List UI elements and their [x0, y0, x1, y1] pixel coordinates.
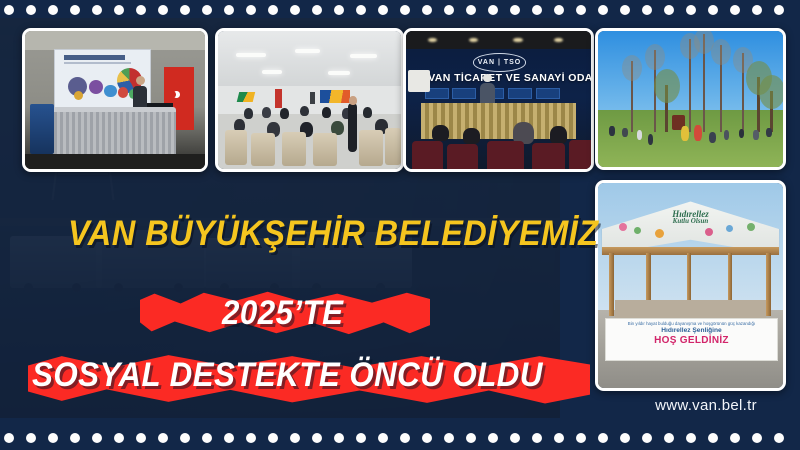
perforation-dot [290, 433, 300, 443]
perforation-dot [378, 5, 388, 15]
perforation-dot [180, 433, 190, 443]
website-url[interactable]: www.van.bel.tr [616, 397, 796, 414]
perforation-dot [312, 433, 322, 443]
perforation-dot [510, 5, 520, 15]
perforation-dot [334, 433, 344, 443]
perforation-dot [356, 433, 366, 443]
perforation-dot [598, 5, 608, 15]
perforation-dot [224, 5, 234, 15]
perforation-dot [554, 5, 564, 15]
perforation-dot [686, 5, 696, 15]
perforation-dot [774, 433, 784, 443]
perforation-dot [246, 433, 256, 443]
perforation-dot [334, 5, 344, 15]
perforation-dot [48, 433, 58, 443]
perforation-dot [400, 5, 410, 15]
perforation-dot [444, 5, 454, 15]
perforation-dot [268, 5, 278, 15]
perforation-dot [488, 5, 498, 15]
perforation-dot [664, 433, 674, 443]
perforation-dot [92, 433, 102, 443]
perforation-dot [290, 5, 300, 15]
perforation-dot [730, 5, 740, 15]
perforation-dot [752, 5, 762, 15]
perforation-dot [70, 5, 80, 15]
perforation-dot [378, 433, 388, 443]
perforation-dot [576, 433, 586, 443]
perforation-dot [26, 5, 36, 15]
photo-van-tso: VAN | TSO VAN TİCARET VE SANAYİ ODASI [403, 28, 594, 172]
perforation-dot [774, 5, 784, 15]
perforation-dot [708, 5, 718, 15]
perforation-dot [686, 433, 696, 443]
perforation-dot [532, 433, 542, 443]
photo-presentation-hall [22, 28, 208, 172]
perforation-dot [202, 5, 212, 15]
perforation-dot [26, 433, 36, 443]
perforation-dot [752, 433, 762, 443]
perforation-dot [642, 433, 652, 443]
perforation-dot [642, 5, 652, 15]
photo-hidirellez: Hıdırellez Kutlu Olsun Bin yıldır hayat … [595, 180, 786, 391]
van-tso-logo: VAN | TSO [473, 53, 527, 72]
perforation-dot [532, 5, 542, 15]
perforation-dot [400, 433, 410, 443]
perforation-dot [554, 433, 564, 443]
perforation-dot [136, 5, 146, 15]
perforation-dot [48, 5, 58, 15]
headline-line-2: 2025’TE [222, 294, 343, 333]
perforation-dot [4, 5, 14, 15]
perforation-dot [466, 433, 476, 443]
headline-block: VAN BÜYÜKŞEHİR BELEDİYEMİZ 2025’TE SOSYA… [0, 206, 612, 406]
perforation-dot [620, 433, 630, 443]
headline-line-1: VAN BÜYÜKŞEHİR BELEDİYEMİZ [68, 214, 599, 254]
perforation-dot [4, 433, 14, 443]
perforation-dot [598, 433, 608, 443]
perforation-dot [444, 433, 454, 443]
perforation-dot [114, 5, 124, 15]
perforation-dot [136, 433, 146, 443]
perforation-dot [158, 433, 168, 443]
perforation-dot [730, 433, 740, 443]
perforation-dot [224, 433, 234, 443]
van-tso-screen-title: VAN TİCARET VE SANAYİ ODASI [428, 72, 569, 84]
perforation-dot [356, 5, 366, 15]
perforation-dot [664, 5, 674, 15]
perforation-dot [268, 433, 278, 443]
perforation-dots-bottom [0, 428, 800, 450]
headline-line-3: SOSYAL DESTEKTE ÖNCÜ OLDU [32, 356, 543, 395]
perforation-dot [180, 5, 190, 15]
perforation-dot [422, 5, 432, 15]
perforation-dot [312, 5, 322, 15]
photo-park-festival [595, 28, 786, 170]
perforation-dots-top [0, 0, 800, 22]
perforation-dot [202, 433, 212, 443]
perforation-dot [114, 433, 124, 443]
perforation-dot [422, 433, 432, 443]
photo-seminar-audience [215, 28, 404, 172]
perforation-dot [70, 433, 80, 443]
perforation-dot [246, 5, 256, 15]
hidirellez-banner-line1: Bin yıldır hayat bulduğu dayanışma ve ho… [606, 321, 776, 326]
perforation-dot [708, 433, 718, 443]
hidirellez-banner-line3: HOŞ GELDİNİZ [606, 335, 776, 346]
hidirellez-banner-line2: Hıdırellez Şenliğine [606, 327, 776, 334]
perforation-dot [92, 5, 102, 15]
perforation-dot [510, 433, 520, 443]
perforation-dot [620, 5, 630, 15]
perforation-dot [158, 5, 168, 15]
perforation-dot [488, 433, 498, 443]
perforation-dot [466, 5, 476, 15]
poster-canvas: VAN | TSO VAN TİCARET VE SANAYİ ODASI [0, 0, 800, 450]
perforation-dot [576, 5, 586, 15]
